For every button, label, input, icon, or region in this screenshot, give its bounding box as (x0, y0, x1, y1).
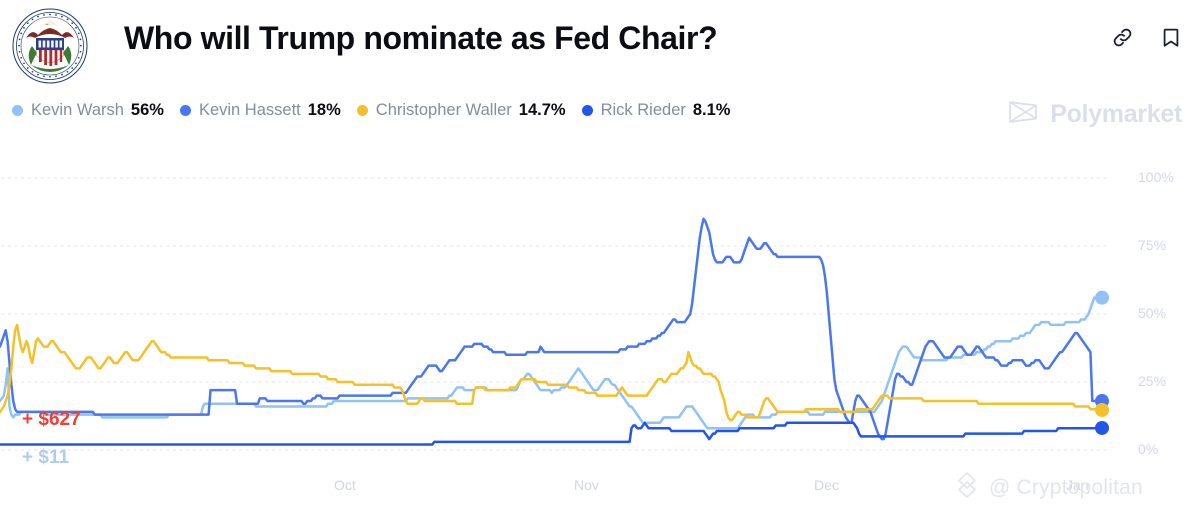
legend-value: 56% (131, 101, 164, 120)
legend-value: 14.7% (519, 101, 566, 120)
polymarket-wordmark: Polymarket (1050, 100, 1182, 129)
series-line (0, 423, 1098, 445)
cryptopolitan-diamond-icon (952, 470, 982, 505)
legend-value: 8.1% (693, 101, 731, 120)
legend-label: Kevin Warsh (31, 101, 124, 120)
y-axis-tick-label: 100% (1138, 169, 1192, 185)
cryptopolitan-wordmark: @ Cryptopolitan (989, 476, 1143, 500)
legend-value: 18% (308, 101, 341, 120)
y-axis-tick-label: 25% (1138, 373, 1192, 389)
legend-label: Christopher Waller (376, 101, 512, 120)
legend-label: Rick Rieder (601, 101, 686, 120)
annotation-11: + $11 (22, 447, 69, 469)
series-endpoint-dot (1095, 421, 1109, 435)
legend-item-kevin-warsh[interactable]: Kevin Warsh 56% (12, 101, 164, 120)
legend-item-kevin-hassett[interactable]: Kevin Hassett 18% (180, 101, 341, 120)
link-icon[interactable] (1111, 26, 1134, 49)
legend-color-dot (357, 105, 368, 116)
legend-color-dot (12, 105, 23, 116)
polymarket-logo-icon (1008, 99, 1038, 130)
x-axis-tick-label: Dec (814, 477, 839, 493)
chart-legend: Kevin Warsh 56% Kevin Hassett 18% Christ… (12, 101, 746, 120)
header-actions (1111, 26, 1182, 49)
series-line (0, 298, 1098, 429)
legend-color-dot (582, 105, 593, 116)
chart-area: 0%25%50%75%100% OctNovDecJan (0, 150, 1200, 509)
polymarket-chart-card: Who will Trump nominate as Fed Chair? Ke… (0, 0, 1200, 509)
polymarket-watermark: Polymarket (1008, 99, 1182, 130)
bookmark-icon[interactable] (1160, 26, 1182, 49)
y-axis-tick-label: 50% (1138, 305, 1192, 321)
x-axis-tick-label: Oct (334, 477, 356, 493)
series-endpoint-dot (1095, 291, 1109, 305)
y-axis-tick-label: 0% (1138, 441, 1192, 457)
legend-color-dot (180, 105, 191, 116)
legend-item-rick-rieder[interactable]: Rick Rieder 8.1% (582, 101, 731, 120)
legend-item-christopher-waller[interactable]: Christopher Waller 14.7% (357, 101, 566, 120)
card-header: Who will Trump nominate as Fed Chair? (0, 0, 1200, 90)
series-line (0, 325, 1098, 420)
annotation-627: + $627 (22, 409, 81, 431)
line-chart-plot[interactable] (0, 150, 1200, 509)
y-axis-tick-label: 75% (1138, 237, 1192, 253)
cryptopolitan-watermark: @ Cryptopolitan (952, 470, 1143, 505)
legend-label: Kevin Hassett (199, 101, 301, 120)
federal-reserve-seal-icon (12, 8, 88, 84)
x-axis-tick-label: Nov (574, 477, 599, 493)
page-title: Who will Trump nominate as Fed Chair? (124, 20, 717, 57)
series-endpoint-dot (1095, 403, 1109, 417)
series-line (0, 219, 1098, 439)
